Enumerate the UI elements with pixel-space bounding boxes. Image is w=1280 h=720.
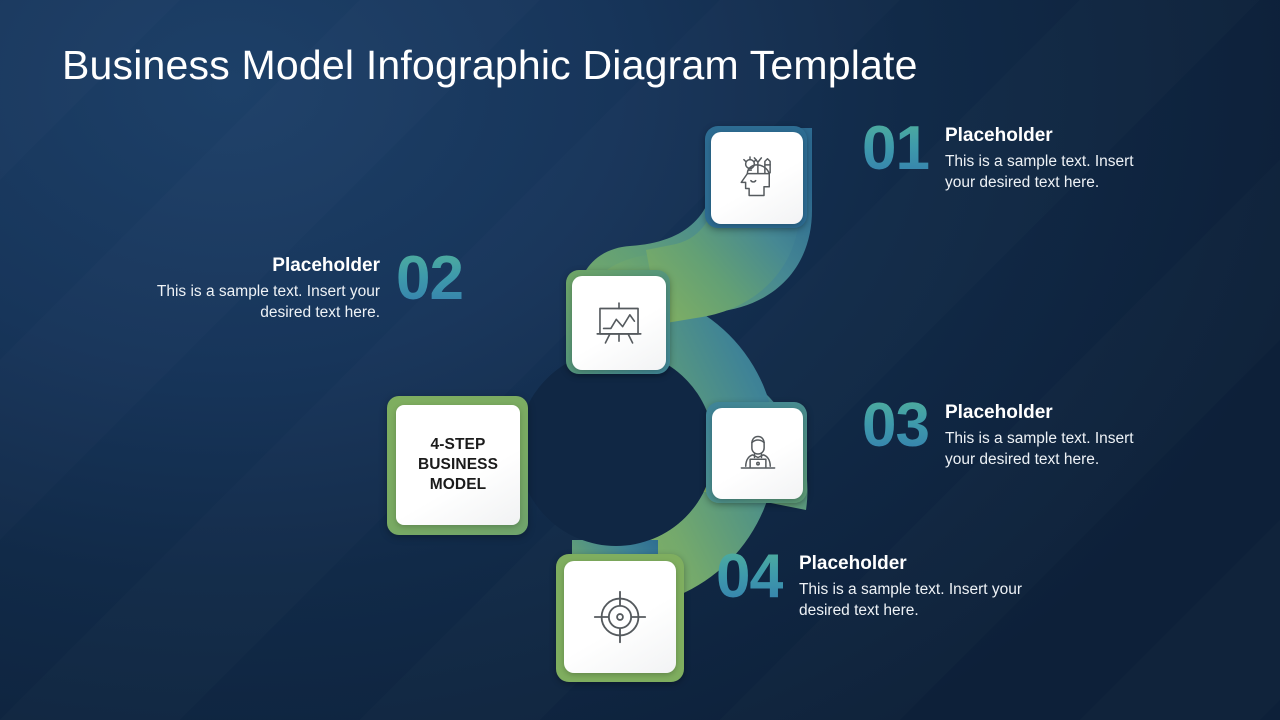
step-heading-2: Placeholder [148,256,380,277]
step-number-2: 02 [396,250,463,309]
step-block-4: 04 Placeholder This is a sample text. In… [716,548,1034,621]
step-number-4: 04 [716,548,783,607]
person-at-laptop-icon [730,426,786,482]
step-number-3: 03 [862,397,929,456]
center-label: 4-STEP BUSINESS MODEL [418,435,498,494]
step-node-4[interactable] [556,554,684,682]
step-node-1-card [711,132,803,224]
step-node-1[interactable] [705,126,807,228]
step-node-3-card [712,408,803,499]
step-text-2: This is a sample text. Insert your desir… [148,282,380,323]
step-block-2: Placeholder This is a sample text. Inser… [148,250,463,323]
center-card: 4-STEP BUSINESS MODEL [396,405,520,525]
center-line-2: BUSINESS [418,456,498,473]
step-block-1: 01 Placeholder This is a sample text. In… [862,120,1135,193]
step-text-4: This is a sample text. Insert your desir… [799,580,1034,621]
step-body-4: Placeholder This is a sample text. Inser… [799,548,1034,621]
step-heading-4: Placeholder [799,554,1034,575]
step-body-2: Placeholder This is a sample text. Inser… [148,250,380,323]
step-node-2[interactable] [566,270,670,374]
presentation-chart-board-icon [590,294,648,352]
crosshair-target-icon [589,586,651,648]
step-block-3: 03 Placeholder This is a sample text. In… [862,397,1135,470]
step-node-3[interactable] [706,402,807,503]
step-number-1: 01 [862,120,929,179]
step-text-3: This is a sample text. Insert your desir… [945,429,1135,470]
step-node-4-card [564,561,676,673]
step-body-3: Placeholder This is a sample text. Inser… [945,397,1135,470]
step-heading-3: Placeholder [945,403,1135,424]
step-text-1: This is a sample text. Insert your desir… [945,152,1135,193]
slide-canvas: Business Model Infographic Diagram Templ… [0,0,1280,720]
ribbon-void [518,350,714,546]
head-with-creative-tools-icon [729,150,785,206]
center-line-3: MODEL [430,476,486,493]
center-line-1: 4-STEP [431,436,486,453]
center-node[interactable]: 4-STEP BUSINESS MODEL [387,396,528,535]
step-body-1: Placeholder This is a sample text. Inser… [945,120,1135,193]
step-node-2-card [572,276,666,370]
step-heading-1: Placeholder [945,126,1135,147]
